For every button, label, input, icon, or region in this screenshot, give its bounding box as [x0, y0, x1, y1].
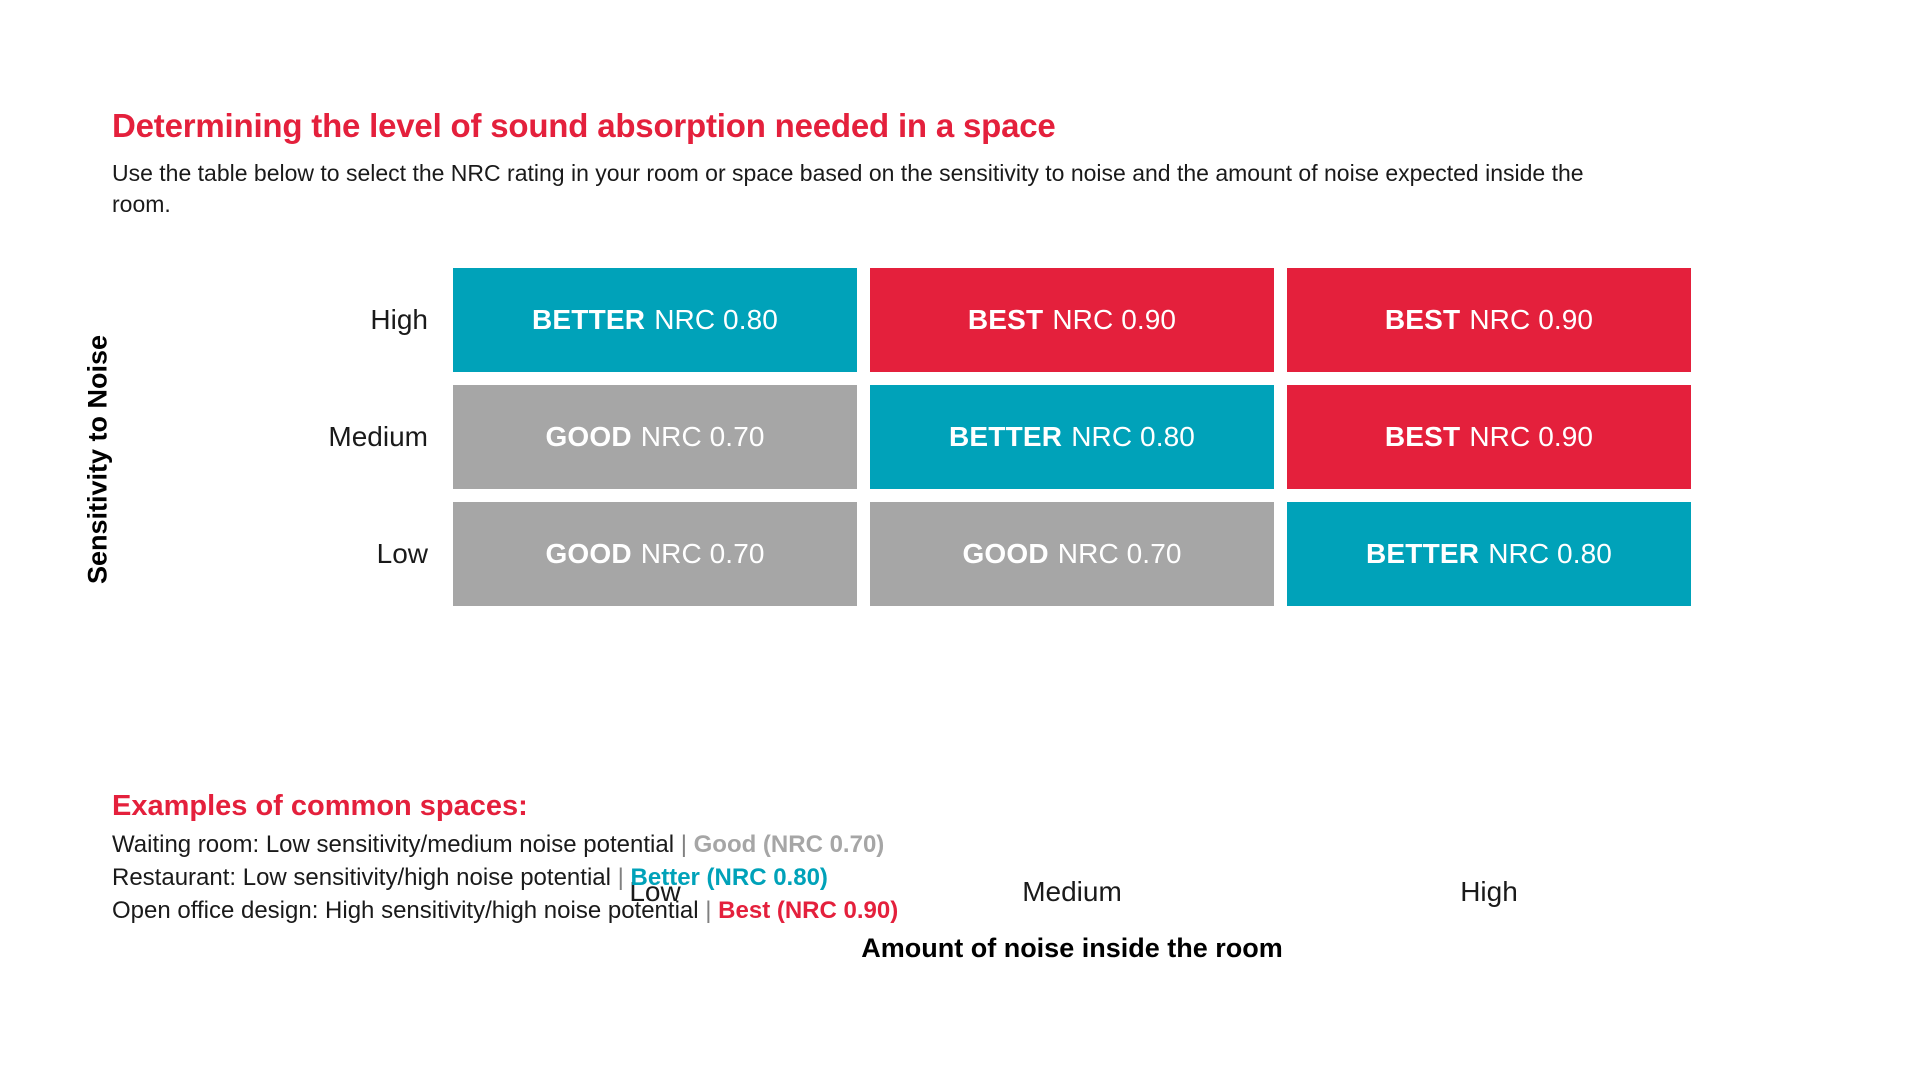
matrix-cell[interactable]: BETTERNRC 0.80	[870, 385, 1274, 489]
matrix-row-cells: GOODNRC 0.70GOODNRC 0.70BETTERNRC 0.80	[453, 502, 1691, 606]
matrix-row: LowGOODNRC 0.70GOODNRC 0.70BETTERNRC 0.8…	[231, 502, 1691, 606]
cell-nrc-value: NRC 0.80	[1071, 421, 1195, 453]
examples-block: Examples of common spaces: Waiting room:…	[112, 790, 1612, 928]
matrix-grid: HighBETTERNRC 0.80BESTNRC 0.90BESTNRC 0.…	[231, 268, 1691, 606]
example-description: Open office design: High sensitivity/hig…	[112, 897, 699, 924]
example-line: Restaurant: Low sensitivity/high noise p…	[112, 862, 1612, 895]
cell-rating-label: BEST	[1385, 304, 1460, 336]
example-line: Open office design: High sensitivity/hig…	[112, 895, 1612, 928]
matrix-cell[interactable]: BESTNRC 0.90	[1287, 268, 1691, 372]
matrix-row-cells: BETTERNRC 0.80BESTNRC 0.90BESTNRC 0.90	[453, 268, 1691, 372]
example-separator: |	[705, 897, 718, 924]
cell-rating-label: GOOD	[545, 421, 631, 453]
cell-rating-label: BETTER	[949, 421, 1062, 453]
cell-nrc-value: NRC 0.80	[654, 304, 778, 336]
example-description: Restaurant: Low sensitivity/high noise p…	[112, 864, 611, 891]
row-label-low: Low	[231, 502, 453, 606]
matrix-cell[interactable]: GOODNRC 0.70	[453, 385, 857, 489]
examples-list: Waiting room: Low sensitivity/medium noi…	[112, 829, 1612, 928]
cell-rating-label: GOOD	[545, 538, 631, 570]
example-line: Waiting room: Low sensitivity/medium noi…	[112, 829, 1612, 862]
cell-nrc-value: NRC 0.70	[641, 538, 765, 570]
matrix-row: MediumGOODNRC 0.70BETTERNRC 0.80BESTNRC …	[231, 385, 1691, 489]
matrix-cell[interactable]: GOODNRC 0.70	[870, 502, 1274, 606]
cell-nrc-value: NRC 0.90	[1469, 304, 1593, 336]
cell-rating-label: GOOD	[962, 538, 1048, 570]
x-axis-title: Amount of noise inside the room	[453, 933, 1691, 964]
page-title: Determining the level of sound absorptio…	[112, 108, 1672, 144]
cell-rating-label: BEST	[968, 304, 1043, 336]
row-label-high: High	[231, 268, 453, 372]
matrix-row: HighBETTERNRC 0.80BESTNRC 0.90BESTNRC 0.…	[231, 268, 1691, 372]
cell-nrc-value: NRC 0.80	[1488, 538, 1612, 570]
cell-nrc-value: NRC 0.90	[1052, 304, 1176, 336]
examples-title: Examples of common spaces:	[112, 790, 1612, 823]
y-axis-title: Sensitivity to Noise	[83, 270, 114, 650]
infographic-page: Determining the level of sound absorptio…	[0, 0, 1920, 1080]
example-rating-tag: Good (NRC 0.70)	[694, 831, 885, 858]
matrix-cell[interactable]: BESTNRC 0.90	[870, 268, 1274, 372]
matrix-cell[interactable]: GOODNRC 0.70	[453, 502, 857, 606]
header-block: Determining the level of sound absorptio…	[112, 108, 1672, 219]
matrix-cell[interactable]: BETTERNRC 0.80	[1287, 502, 1691, 606]
cell-rating-label: BEST	[1385, 421, 1460, 453]
example-separator: |	[681, 831, 694, 858]
cell-nrc-value: NRC 0.90	[1469, 421, 1593, 453]
cell-nrc-value: NRC 0.70	[1058, 538, 1182, 570]
matrix-chart: Sensitivity to Noise HighBETTERNRC 0.80B…	[0, 268, 1920, 668]
example-rating-tag: Better (NRC 0.80)	[631, 864, 828, 891]
matrix-cell[interactable]: BETTERNRC 0.80	[453, 268, 857, 372]
row-label-medium: Medium	[231, 385, 453, 489]
cell-rating-label: BETTER	[1366, 538, 1479, 570]
matrix-cell[interactable]: BESTNRC 0.90	[1287, 385, 1691, 489]
example-rating-tag: Best (NRC 0.90)	[718, 897, 898, 924]
cell-rating-label: BETTER	[532, 304, 645, 336]
example-description: Waiting room: Low sensitivity/medium noi…	[112, 831, 674, 858]
matrix-row-cells: GOODNRC 0.70BETTERNRC 0.80BESTNRC 0.90	[453, 385, 1691, 489]
cell-nrc-value: NRC 0.70	[641, 421, 765, 453]
example-separator: |	[618, 864, 631, 891]
page-subtitle: Use the table below to select the NRC ra…	[112, 158, 1642, 219]
